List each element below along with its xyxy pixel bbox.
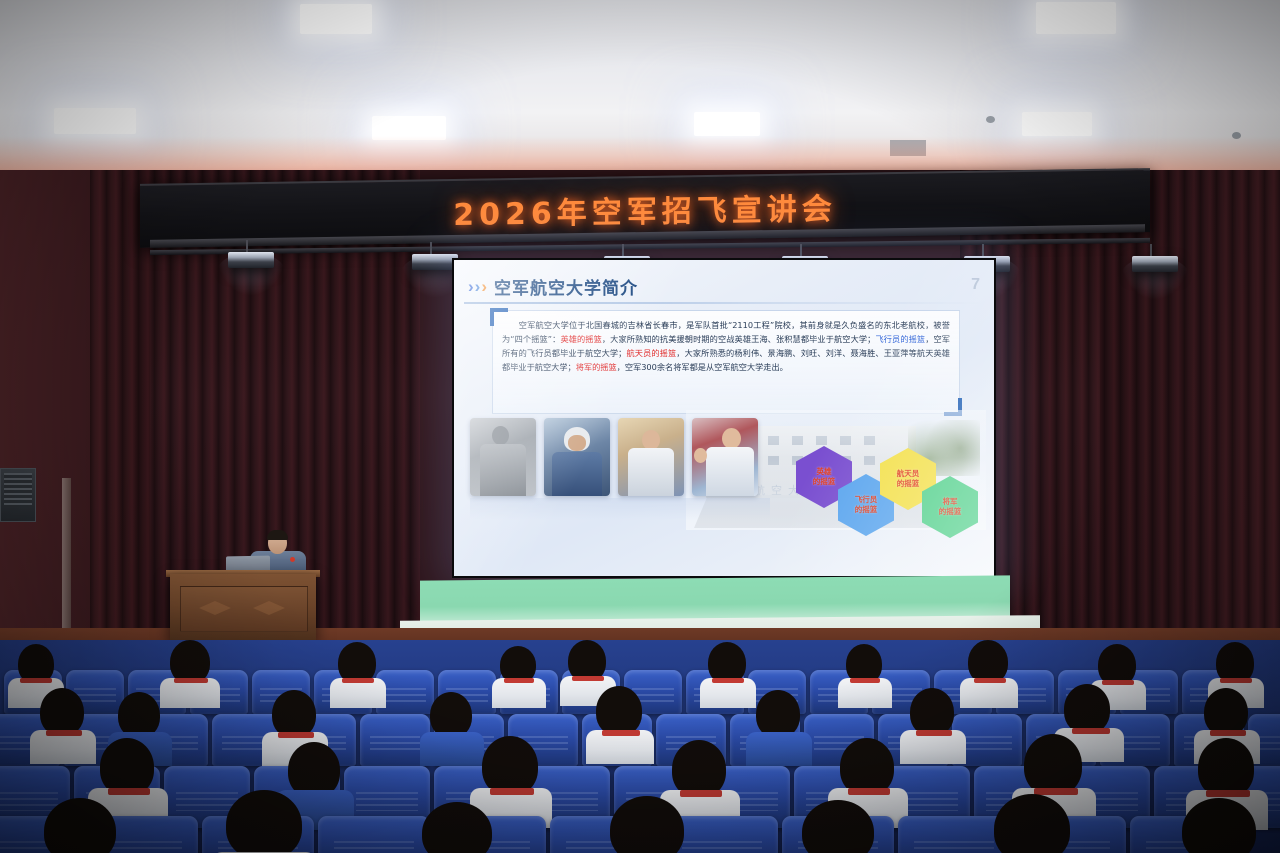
side-door-frame	[62, 478, 71, 638]
ceiling	[0, 0, 1280, 182]
ac-grille-icon	[4, 473, 32, 507]
podium	[170, 574, 316, 640]
slide-title: 空军航空大学简介	[494, 274, 638, 299]
card-corner-top-left	[490, 308, 508, 326]
ceiling-light-panel	[54, 108, 136, 134]
slide-body-text: 空军航空大学位于北国春城的吉林省长春市，是军队首批“2110工程”院校，其前身就…	[493, 311, 959, 374]
slide-title-underline	[464, 302, 984, 304]
auditorium-seat	[318, 816, 430, 853]
audience-area	[0, 640, 1280, 853]
stage-spotlight	[228, 252, 274, 268]
photo-strip-reflection	[470, 498, 770, 520]
list-item	[618, 418, 684, 496]
podium-front-panel	[180, 586, 308, 632]
presenter-insignia-icon	[290, 557, 295, 562]
slide-number: 7	[971, 276, 980, 294]
list-item	[544, 418, 610, 496]
auditorium-photo: 2026年空军招飞宣讲会 › › › 空军航空大学简介 7	[0, 0, 1280, 853]
wall-air-conditioner	[0, 468, 36, 522]
presenter-hair	[267, 530, 288, 540]
presentation-slide: › › › 空军航空大学简介 7 空军航空大学位于北国春城的吉林省长春市，是军队…	[454, 260, 994, 576]
slide-text-card: 空军航空大学位于北国春城的吉林省长春市，是军队首批“2110工程”院校，其前身就…	[492, 310, 960, 414]
photo-strip	[470, 418, 770, 496]
slide-title-row: › › › 空军航空大学简介	[468, 274, 638, 299]
chevron-right-icon: › › ›	[468, 278, 487, 295]
ceiling-light-panel	[1022, 112, 1092, 136]
ceiling-light-panel	[1036, 2, 1116, 34]
stage-spotlight	[1132, 256, 1178, 272]
list-item	[692, 418, 758, 496]
hexagon-badge-group: 英雄的摇篮 飞行员的摇篮 航天员的摇篮 将军的摇篮	[796, 446, 986, 542]
ceiling-light-panel	[300, 4, 372, 34]
smoke-detector-icon	[986, 116, 995, 123]
list-item	[470, 418, 536, 496]
projection-screen: › › › 空军航空大学简介 7 空军航空大学位于北国春城的吉林省长春市，是军队…	[452, 258, 996, 578]
ceiling-light-panel	[694, 112, 760, 136]
